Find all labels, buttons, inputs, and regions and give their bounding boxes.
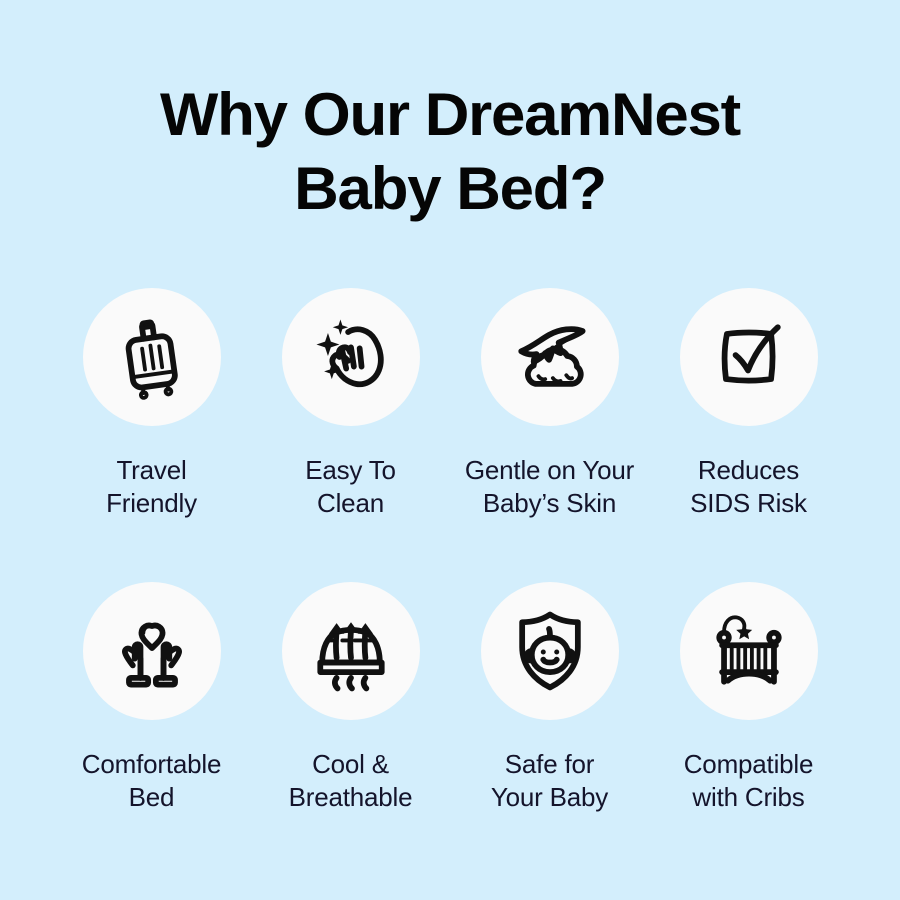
feature-item[interactable]: Safe for Your Baby — [450, 582, 649, 814]
mattress-airflow-icon — [303, 603, 399, 699]
hand-wipe-sparkle-icon — [303, 309, 399, 405]
feature-label: Safe for Your Baby — [491, 748, 608, 814]
page-title: Why Our DreamNest Baby Bed? — [0, 0, 900, 226]
feature-label: Travel Friendly — [106, 454, 197, 520]
icon-badge — [481, 582, 619, 720]
crib-mobile-star-icon — [701, 603, 797, 699]
feather-cloud-icon — [502, 309, 598, 405]
suitcase-icon — [104, 309, 200, 405]
icon-badge — [282, 582, 420, 720]
feature-label: Gentle on Your Baby’s Skin — [465, 454, 634, 520]
feature-item[interactable]: Compatible with Cribs — [649, 582, 848, 814]
poster-root: Why Our DreamNest Baby Bed? — [0, 0, 900, 900]
feature-label: Cool & Breathable — [289, 748, 413, 814]
feature-grid-row-1: Travel Friendly Easy To Clean — [0, 288, 900, 520]
shield-baby-face-icon — [502, 603, 598, 699]
icon-badge — [282, 288, 420, 426]
title-line-2: Baby Bed? — [0, 152, 900, 226]
feature-item[interactable]: Easy To Clean — [251, 288, 450, 520]
feature-grid-row-2: Comfortable Bed Cool & Breathable — [0, 582, 900, 814]
feature-item[interactable]: Gentle on Your Baby’s Skin — [450, 288, 649, 520]
feature-label: Easy To Clean — [305, 454, 396, 520]
feature-label: Comfortable Bed — [82, 748, 221, 814]
feature-label: Compatible with Cribs — [684, 748, 814, 814]
checkbox-check-icon — [701, 309, 797, 405]
feature-item[interactable]: Reduces SIDS Risk — [649, 288, 848, 520]
icon-badge — [83, 582, 221, 720]
icon-badge — [83, 288, 221, 426]
icon-badge — [481, 288, 619, 426]
feature-item[interactable]: Cool & Breathable — [251, 582, 450, 814]
hands-heart-icon — [104, 603, 200, 699]
icon-badge — [680, 582, 818, 720]
feature-item[interactable]: Travel Friendly — [52, 288, 251, 520]
feature-item[interactable]: Comfortable Bed — [52, 582, 251, 814]
title-line-1: Why Our DreamNest — [0, 78, 900, 152]
feature-label: Reduces SIDS Risk — [690, 454, 807, 520]
icon-badge — [680, 288, 818, 426]
